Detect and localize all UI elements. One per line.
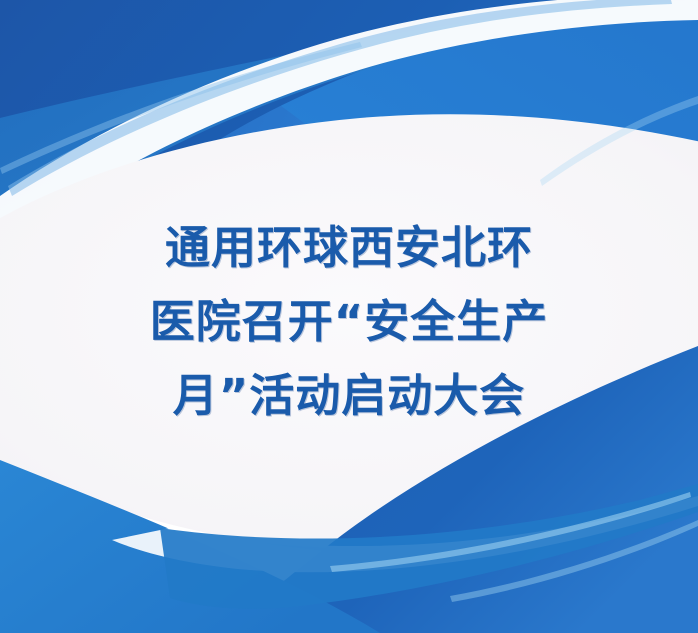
decorative-background [0, 0, 698, 633]
poster-canvas: 通用环球西安北环 医院召开“安全生产 月”活动启动大会 [0, 0, 698, 633]
